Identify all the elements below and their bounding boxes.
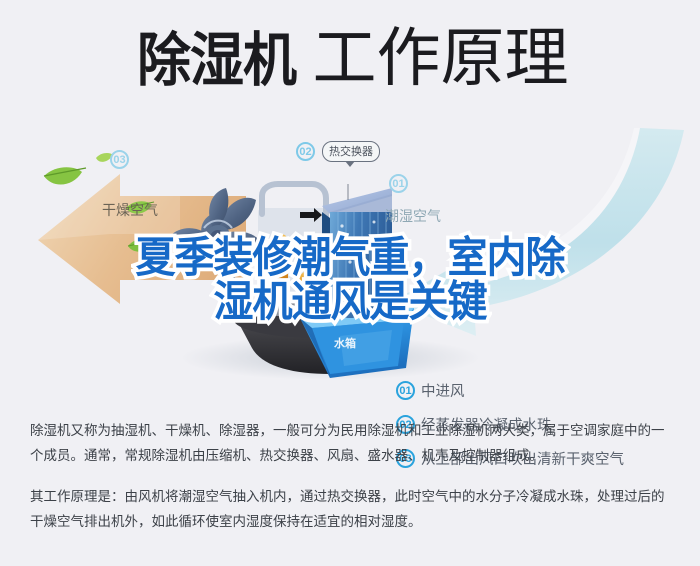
badge-01-humid-air: 01: [389, 174, 408, 193]
page-title: 除湿机工作原理: [0, 26, 700, 90]
step-badge: 01: [396, 381, 415, 400]
label-dry-air: 干燥空气: [102, 200, 158, 220]
step-text: 中进风: [421, 380, 465, 401]
infographic-page: 除湿机工作原理: [0, 0, 700, 566]
page-title-part2: 工作原理: [313, 26, 569, 90]
badge-03-dry-air: 03: [110, 150, 129, 169]
page-title-part1: 除湿机: [137, 31, 296, 89]
body-paragraph-1: 除湿机又称为抽湿机、干燥机、除湿器，一般可分为民用除湿机和工业除湿机两大类，属于…: [30, 418, 675, 468]
body-copy: 除湿机又称为抽湿机、干燥机、除湿器，一般可分为民用除湿机和工业除湿机两大类，属于…: [30, 418, 675, 534]
label-water-tank: 水箱: [334, 335, 356, 351]
badge-02-heat-exchanger: 02: [296, 142, 315, 161]
step-item: 01 中进风: [396, 380, 696, 401]
callout-heat-exchanger: 热交换器: [322, 141, 380, 162]
dehumidifier-diagram: 03 干燥空气 02 热交换器 01 潮湿空气 水箱 01 中进风 02 经蒸发…: [0, 122, 700, 400]
heat-exchanger: [322, 188, 392, 318]
body-paragraph-2: 其工作原理是：由风机将潮湿空气抽入机内，通过热交换器，此时空气中的水分子冷凝成水…: [30, 484, 675, 534]
label-humid-air: 潮湿空气: [385, 206, 441, 226]
